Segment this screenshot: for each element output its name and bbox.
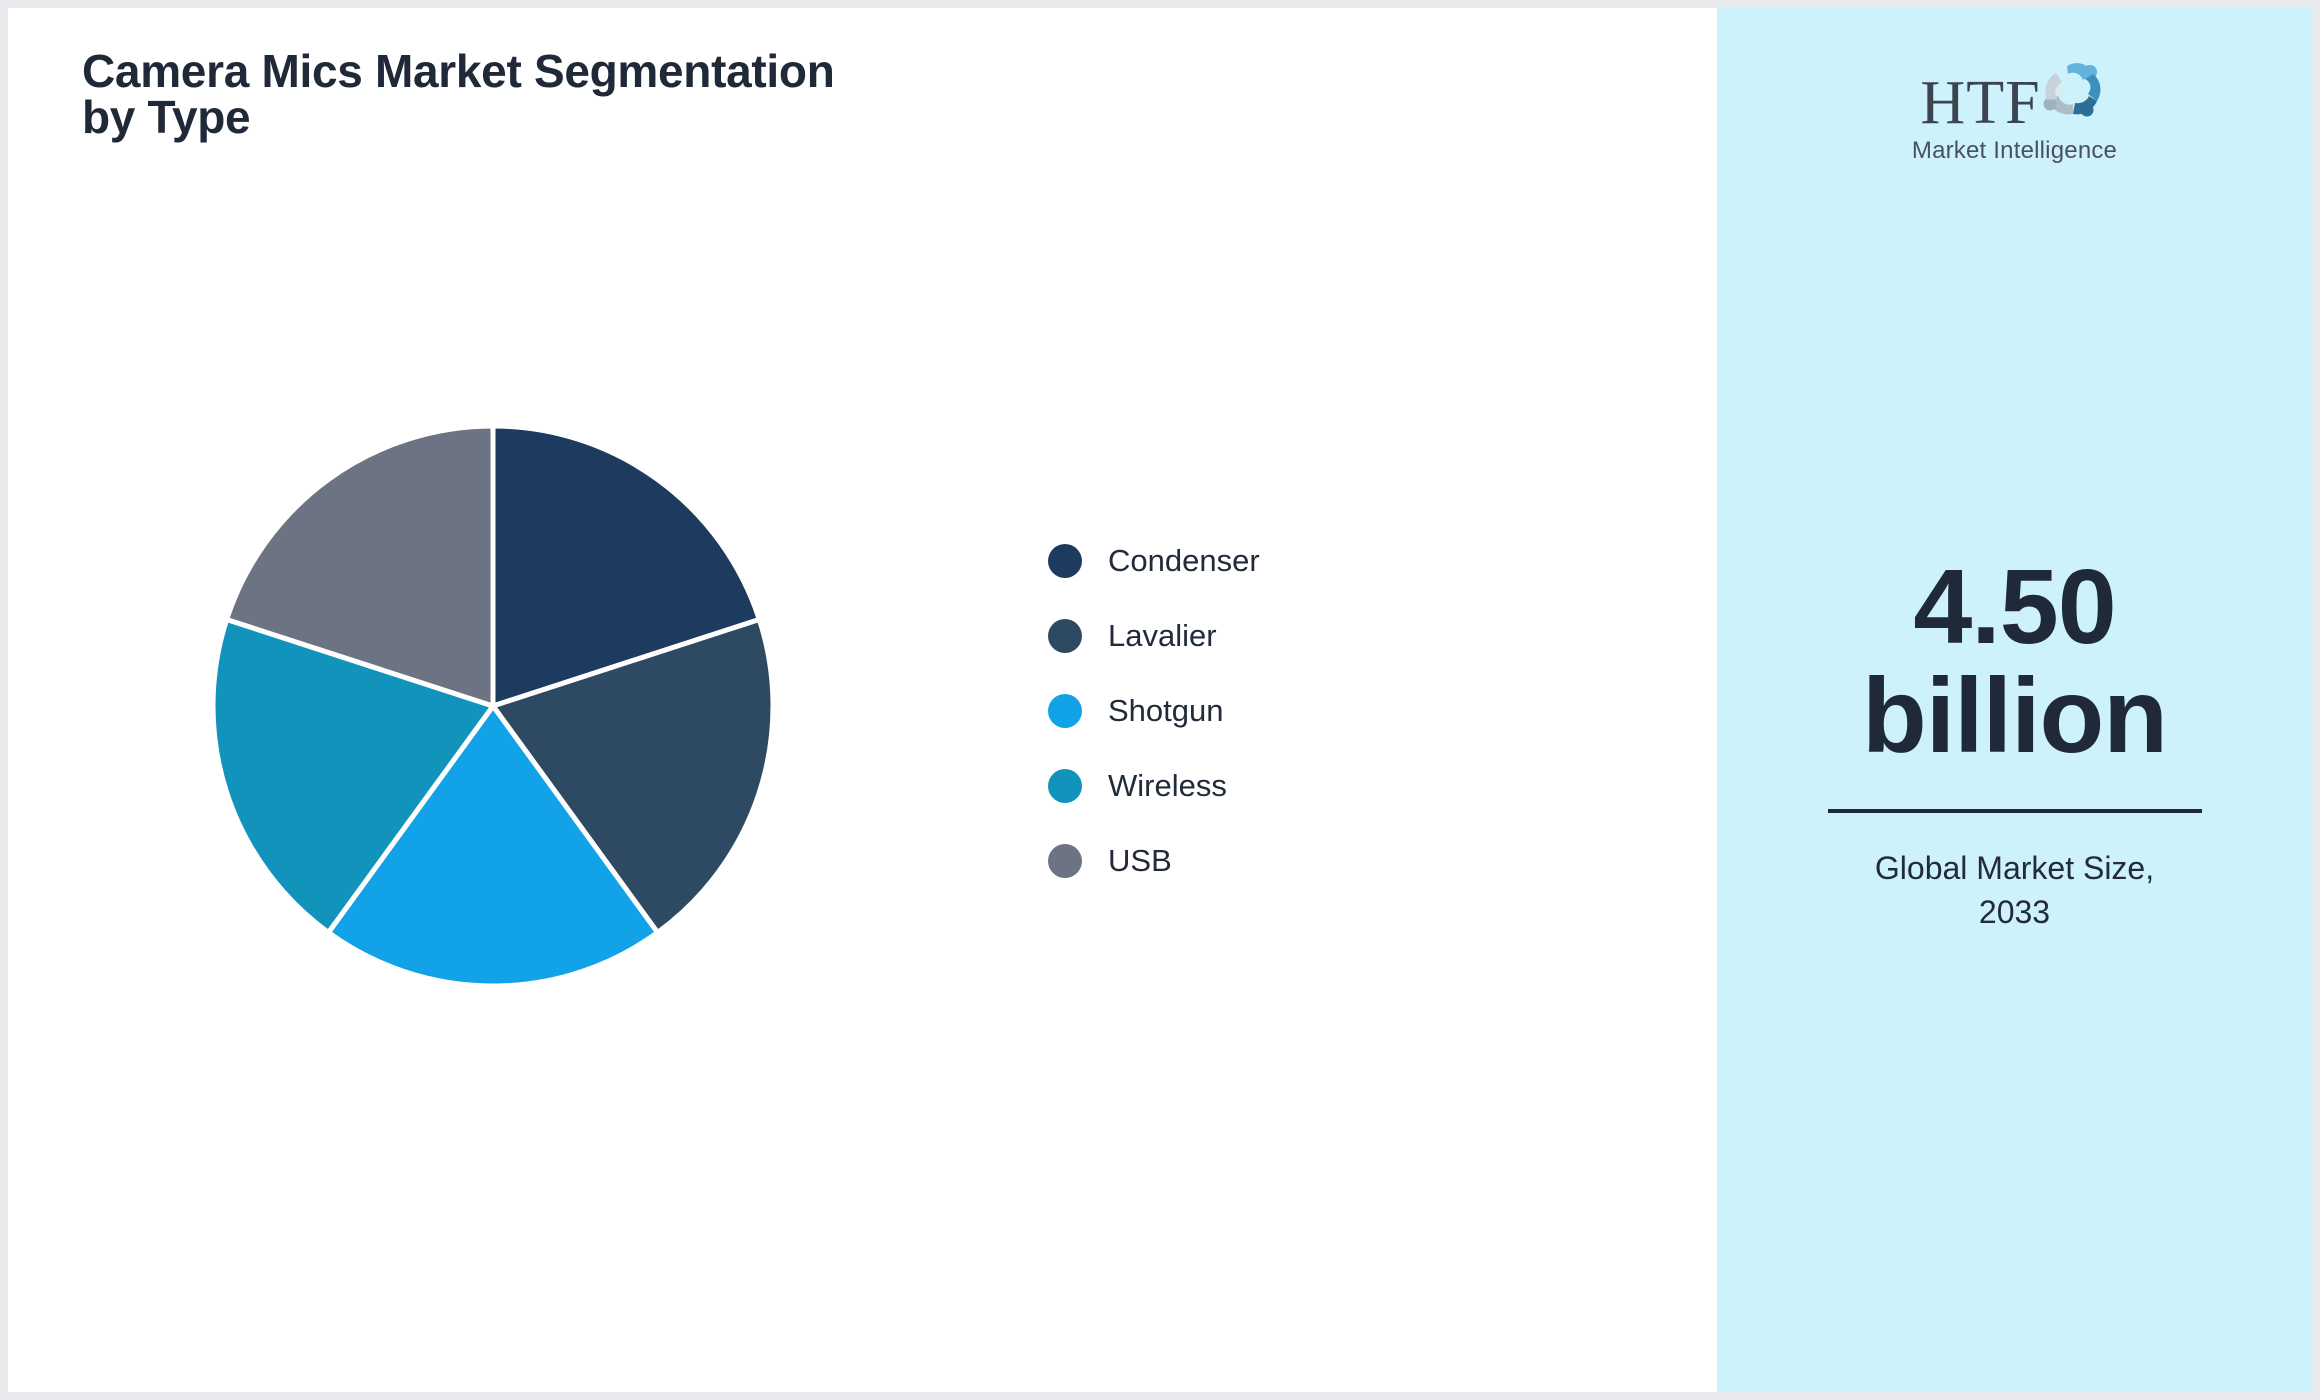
chart-legend: Condenser Lavalier Shotgun Wireless USB bbox=[1048, 523, 1260, 898]
legend-swatch-icon bbox=[1048, 694, 1082, 728]
stat-caption-line-2: 2033 bbox=[1777, 891, 2252, 934]
legend-item-usb[interactable]: USB bbox=[1048, 823, 1260, 898]
stat-value-line-1: 4.50 bbox=[1777, 553, 2252, 662]
pie-chart bbox=[207, 420, 779, 992]
logo-wordmark: HTF bbox=[1920, 74, 2040, 133]
legend-item-lavalier[interactable]: Lavalier bbox=[1048, 598, 1260, 673]
legend-item-label: Lavalier bbox=[1108, 618, 1217, 654]
legend-swatch-icon bbox=[1048, 769, 1082, 803]
legend-swatch-icon bbox=[1048, 844, 1082, 878]
legend-swatch-icon bbox=[1048, 544, 1082, 578]
legend-swatch-icon bbox=[1048, 619, 1082, 653]
three-people-circle-icon bbox=[2037, 60, 2109, 131]
logo-tagline: Market Intelligence bbox=[1912, 137, 2117, 165]
stat-value-line-2: billion bbox=[1777, 662, 2252, 771]
pie-slice-group bbox=[213, 426, 773, 986]
page-title-line-2: by Type bbox=[82, 94, 1082, 140]
chart-panel: Camera Mics Market Segmentation by Type … bbox=[8, 8, 1717, 1392]
legend-item-shotgun[interactable]: Shotgun bbox=[1048, 673, 1260, 748]
stat-caption-line-1: Global Market Size, bbox=[1777, 847, 2252, 890]
brand-logo: HTF bbox=[1717, 60, 2312, 165]
stat-divider bbox=[1828, 809, 2202, 813]
legend-item-label: Shotgun bbox=[1108, 693, 1224, 729]
legend-item-label: Wireless bbox=[1108, 768, 1227, 804]
stat-value: 4.50 billion bbox=[1777, 553, 2252, 771]
stat-sidebar: HTF bbox=[1717, 8, 2312, 1392]
page-title: Camera Mics Market Segmentation by Type bbox=[82, 48, 1082, 140]
legend-item-label: Condenser bbox=[1108, 543, 1260, 579]
legend-item-condenser[interactable]: Condenser bbox=[1048, 523, 1260, 598]
logo-mark: HTF bbox=[1920, 60, 2108, 133]
legend-item-label: USB bbox=[1108, 843, 1172, 879]
page-title-line-1: Camera Mics Market Segmentation bbox=[82, 45, 835, 97]
legend-item-wireless[interactable]: Wireless bbox=[1048, 748, 1260, 823]
stat-block: 4.50 billion Global Market Size, 2033 bbox=[1717, 553, 2312, 934]
stat-caption: Global Market Size, 2033 bbox=[1777, 847, 2252, 933]
pie-chart-svg bbox=[207, 420, 779, 992]
infographic-card: Camera Mics Market Segmentation by Type … bbox=[8, 8, 2312, 1392]
